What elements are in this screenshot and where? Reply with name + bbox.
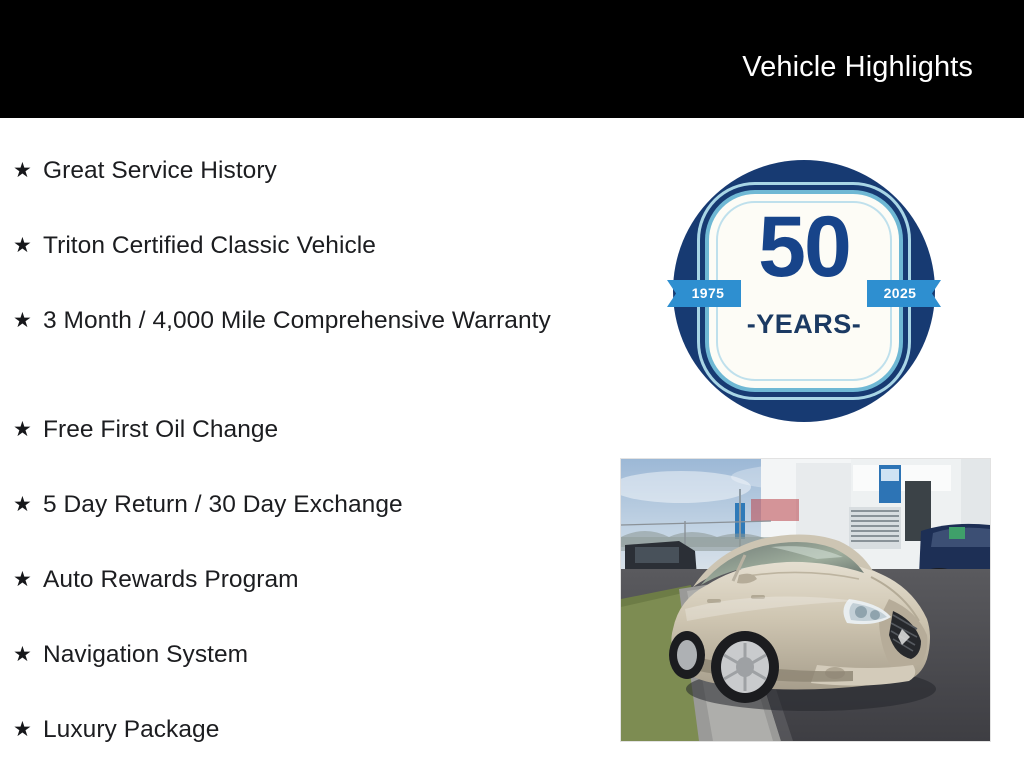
star-bullet-icon: ★ xyxy=(13,488,43,521)
vehicle-highlights-list: ★ Great Service History ★ Triton Certifi… xyxy=(0,118,600,768)
badge-ribbon-start-year: 1975 xyxy=(667,280,741,307)
header-bar: Vehicle Highlights xyxy=(0,0,1024,118)
list-item: ★ Great Service History xyxy=(13,154,573,188)
highlight-label: Navigation System xyxy=(43,638,573,672)
star-bullet-icon: ★ xyxy=(13,413,43,446)
list-item: ★ Auto Rewards Program xyxy=(13,563,573,597)
list-item: ★ 5 Day Return / 30 Day Exchange xyxy=(13,488,573,522)
anniversary-badge-logo: 50 -YEARS- 1975 2025 xyxy=(673,160,935,422)
star-bullet-icon: ★ xyxy=(13,304,43,337)
highlight-label: 3 Month / 4,000 Mile Comprehensive Warra… xyxy=(43,304,573,338)
highlight-label: 5 Day Return / 30 Day Exchange xyxy=(43,488,573,522)
highlight-label: Free First Oil Change xyxy=(43,413,573,447)
star-bullet-icon: ★ xyxy=(13,563,43,596)
highlight-label: Luxury Package xyxy=(43,713,573,747)
highlight-label: Triton Certified Classic Vehicle xyxy=(43,229,573,263)
star-bullet-icon: ★ xyxy=(13,713,43,746)
highlight-label: Auto Rewards Program xyxy=(43,563,573,597)
badge-ribbon-end-year: 2025 xyxy=(867,280,941,307)
vehicle-photo xyxy=(621,459,990,741)
list-item: ★ Free First Oil Change xyxy=(13,413,573,447)
list-item: ★ Triton Certified Classic Vehicle xyxy=(13,229,573,263)
badge-number: 50 xyxy=(673,202,935,292)
star-bullet-icon: ★ xyxy=(13,229,43,262)
vehicle-photo-image xyxy=(621,459,990,741)
page-title: Vehicle Highlights xyxy=(742,50,973,84)
highlight-label: Great Service History xyxy=(43,154,573,188)
list-item: ★ Luxury Package xyxy=(13,713,573,747)
star-bullet-icon: ★ xyxy=(13,154,43,187)
badge-unit-label: -YEARS- xyxy=(673,308,935,340)
list-item: ★ 3 Month / 4,000 Mile Comprehensive War… xyxy=(13,304,573,338)
list-item: ★ Navigation System xyxy=(13,638,573,672)
star-bullet-icon: ★ xyxy=(13,638,43,671)
